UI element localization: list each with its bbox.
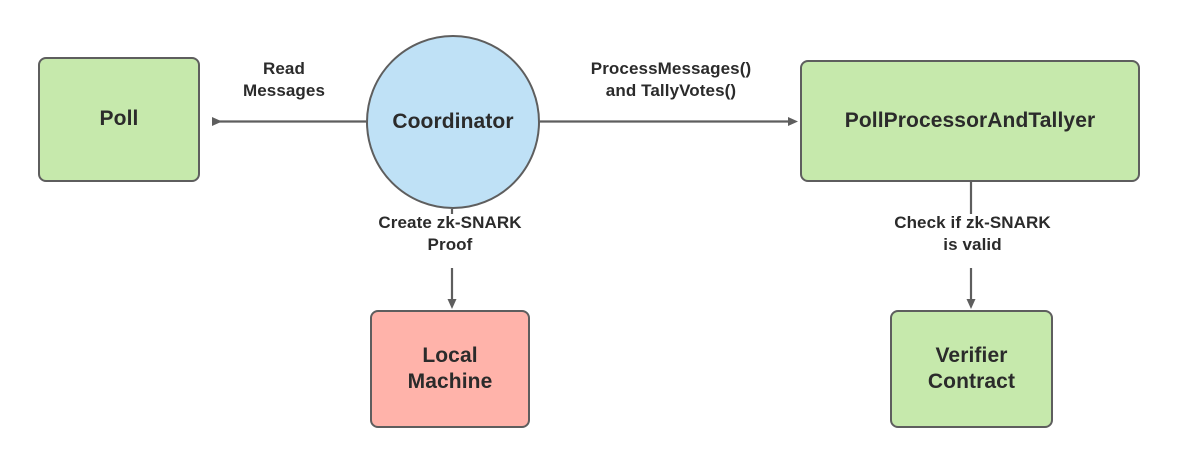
edge-label-create-proof: Create zk-SNARK Proof	[330, 212, 570, 257]
node-coordinator-label: Coordinator	[392, 109, 513, 135]
node-verifiercontract-label: Verifier Contract	[928, 343, 1015, 396]
edge-label-check-proof: Check if zk-SNARK is valid	[850, 212, 1095, 257]
node-localmachine-label: Local Machine	[408, 343, 493, 396]
node-coordinator[interactable]: Coordinator	[366, 35, 540, 209]
node-verifiercontract[interactable]: Verifier Contract	[890, 310, 1053, 428]
edge-label-process-messages: ProcessMessages() and TallyVotes()	[546, 58, 796, 103]
node-pollprocessorandtallyer[interactable]: PollProcessorAndTallyer	[800, 60, 1140, 182]
node-poll-label: Poll	[100, 106, 139, 132]
node-localmachine[interactable]: Local Machine	[370, 310, 530, 428]
node-poll[interactable]: Poll	[38, 57, 200, 182]
diagram-canvas: Poll Coordinator PollProcessorAndTallyer…	[0, 0, 1180, 470]
node-pollprocessorandtallyer-label: PollProcessorAndTallyer	[845, 108, 1096, 134]
edge-label-read-messages: Read Messages	[202, 58, 366, 103]
